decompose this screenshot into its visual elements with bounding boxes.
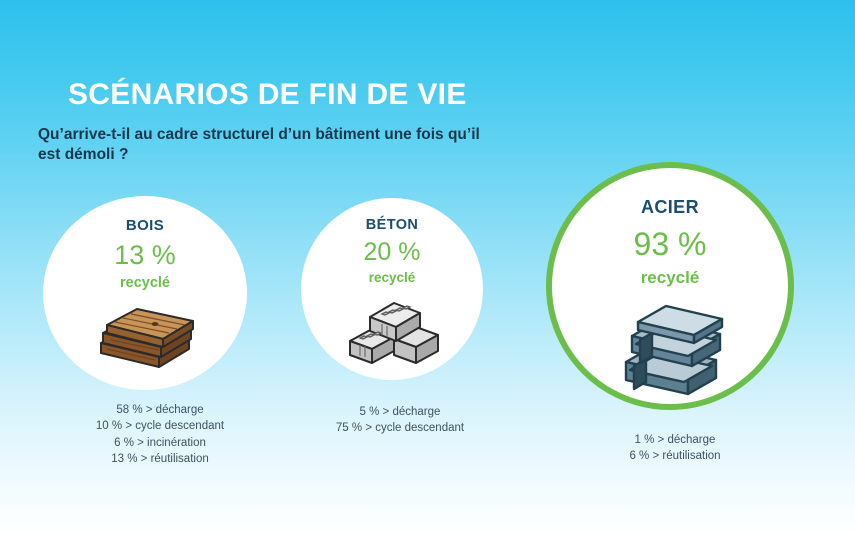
material-label-acier: ACIER [641, 197, 699, 218]
concrete-blocks-icon [344, 295, 440, 365]
page-title: SCÉNARIOS DE FIN DE VIE [68, 78, 558, 111]
footnote-line: 1 % > décharge [575, 432, 775, 448]
footnote-acier: 1 % > décharge 6 % > réutilisation [575, 432, 775, 465]
footnote-line: 10 % > cycle descendant [60, 418, 260, 434]
circle-beton: BÉTON 20 % recyclé [301, 198, 483, 380]
page-subtitle: Qu’arrive-t-il au cadre structurel d’un … [38, 125, 493, 166]
steel-beams-icon [612, 300, 728, 400]
footnote-bois: 58 % > décharge 10 % > cycle descendant … [60, 402, 260, 467]
circle-bois: BOIS 13 % recyclé [43, 196, 247, 390]
material-recycled-label-acier: recyclé [641, 269, 700, 286]
material-label-beton: BÉTON [366, 217, 419, 233]
wood-planks-icon [93, 303, 197, 369]
header-block: SCÉNARIOS DE FIN DE VIE Qu’arrive-t-il a… [38, 78, 558, 166]
footnote-line: 58 % > décharge [60, 402, 260, 418]
infographic-canvas: SCÉNARIOS DE FIN DE VIE Qu’arrive-t-il a… [0, 0, 855, 537]
footnote-beton: 5 % > décharge 75 % > cycle descendant [300, 404, 500, 437]
material-recycled-label-bois: recyclé [120, 276, 170, 291]
material-percent-bois: 13 % [114, 242, 176, 269]
footnote-line: 6 % > réutilisation [575, 448, 775, 464]
material-percent-beton: 20 % [364, 240, 421, 265]
material-percent-acier: 93 % [634, 228, 707, 260]
circle-acier: ACIER 93 % recyclé [546, 162, 794, 410]
footnote-line: 13 % > réutilisation [60, 451, 260, 467]
footnote-line: 6 % > incinération [60, 435, 260, 451]
material-recycled-label-beton: recyclé [369, 271, 416, 285]
material-label-bois: BOIS [126, 217, 164, 234]
footnote-line: 5 % > décharge [300, 404, 500, 420]
footnote-line: 75 % > cycle descendant [300, 420, 500, 436]
